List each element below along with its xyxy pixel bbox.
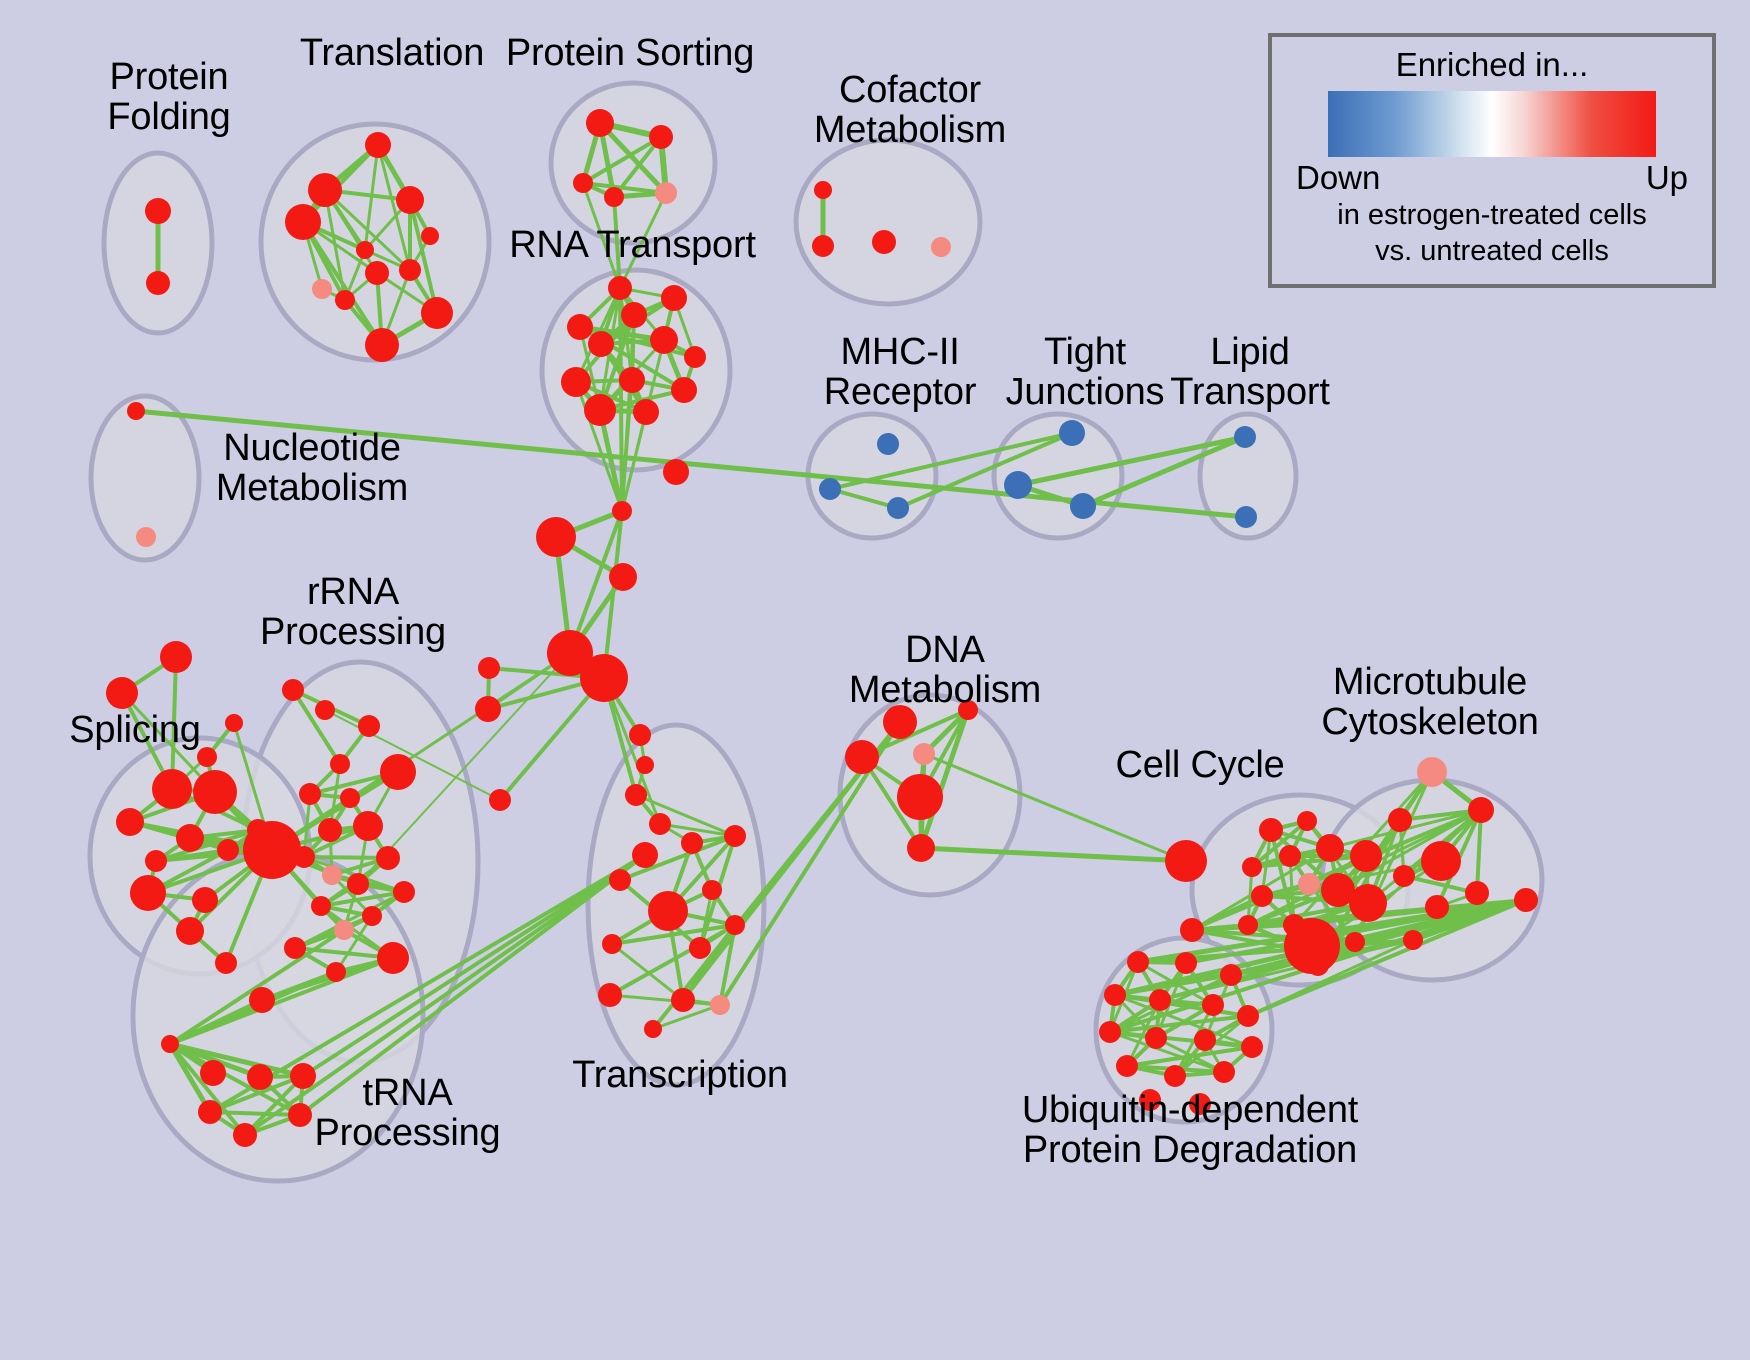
network-node[interactable]: [152, 769, 192, 809]
network-node[interactable]: [106, 677, 138, 709]
network-node[interactable]: [1284, 918, 1340, 974]
network-node[interactable]: [1468, 797, 1494, 823]
network-node[interactable]: [1388, 808, 1412, 832]
network-node[interactable]: [489, 789, 511, 811]
network-node[interactable]: [176, 824, 204, 852]
network-node[interactable]: [145, 198, 171, 224]
network-node[interactable]: [1220, 964, 1242, 986]
cluster-label-trna-processing: tRNA Processing: [300, 1073, 515, 1154]
network-node[interactable]: [1149, 989, 1171, 1011]
network-node[interactable]: [249, 987, 275, 1013]
network-node[interactable]: [625, 784, 647, 806]
network-node[interactable]: [193, 770, 237, 814]
network-node[interactable]: [1004, 471, 1032, 499]
network-node[interactable]: [561, 367, 591, 397]
cluster-label-transcription: Transcription: [560, 1055, 800, 1095]
network-node[interactable]: [1251, 885, 1273, 907]
network-node[interactable]: [308, 173, 342, 207]
network-node[interactable]: [478, 657, 500, 679]
network-node[interactable]: [689, 937, 711, 959]
network-node[interactable]: [598, 983, 622, 1007]
network-node[interactable]: [1279, 845, 1301, 867]
network-node[interactable]: [1298, 873, 1320, 895]
legend-up-label: Up: [1646, 159, 1688, 197]
network-node[interactable]: [621, 302, 647, 328]
network-node[interactable]: [1350, 840, 1382, 872]
network-node[interactable]: [315, 700, 335, 720]
cluster-label-mhc-ii-receptor: MHC-II Receptor: [800, 332, 1000, 413]
network-node[interactable]: [588, 331, 614, 357]
network-node[interactable]: [312, 279, 332, 299]
cluster-label-lipid-transport: Lipid Transport: [1150, 332, 1350, 413]
network-node[interactable]: [1213, 1061, 1235, 1083]
network-edge: [500, 678, 604, 800]
cluster-label-rrna-processing: rRNA Processing: [248, 572, 458, 653]
network-node[interactable]: [629, 724, 651, 746]
network-node[interactable]: [1425, 895, 1449, 919]
cluster-label-protein-folding: Protein Folding: [74, 57, 264, 138]
network-node[interactable]: [609, 869, 631, 891]
network-node[interactable]: [1099, 1021, 1121, 1043]
cluster-label-translation: Translation: [277, 33, 507, 73]
network-node[interactable]: [358, 715, 380, 737]
network-node[interactable]: [200, 1060, 226, 1086]
network-node[interactable]: [671, 988, 695, 1012]
network-node[interactable]: [176, 917, 204, 945]
network-node[interactable]: [1393, 865, 1415, 887]
network-node[interactable]: [812, 235, 834, 257]
network-node[interactable]: [353, 811, 383, 841]
network-node[interactable]: [130, 875, 166, 911]
network-node[interactable]: [814, 181, 832, 199]
network-node[interactable]: [365, 261, 389, 285]
network-node[interactable]: [573, 173, 593, 193]
network-node[interactable]: [931, 237, 951, 257]
network-node[interactable]: [619, 367, 645, 393]
network-node[interactable]: [536, 517, 576, 557]
network-node[interactable]: [1127, 951, 1149, 973]
network-node[interactable]: [293, 846, 315, 868]
network-node[interactable]: [845, 740, 879, 774]
network-node[interactable]: [648, 891, 688, 931]
network-node[interactable]: [1242, 857, 1262, 877]
legend-color-bar: [1328, 91, 1656, 157]
network-node[interactable]: [1345, 932, 1365, 952]
network-node[interactable]: [1145, 1027, 1167, 1049]
network-node[interactable]: [1194, 1029, 1216, 1051]
network-node[interactable]: [1241, 1036, 1263, 1058]
legend-panel: Enriched in... Down Up in estrogen-treat…: [1268, 33, 1716, 288]
network-node[interactable]: [311, 896, 331, 916]
network-node[interactable]: [282, 679, 304, 701]
network-node[interactable]: [710, 995, 730, 1015]
network-node[interactable]: [127, 402, 145, 420]
network-node[interactable]: [145, 850, 167, 872]
network-node[interactable]: [1349, 884, 1387, 922]
network-node[interactable]: [671, 377, 697, 403]
network-node[interactable]: [136, 527, 156, 547]
network-node[interactable]: [160, 641, 192, 673]
network-node[interactable]: [602, 934, 622, 954]
network-node[interactable]: [421, 227, 439, 245]
network-node[interactable]: [684, 346, 706, 368]
network-node[interactable]: [347, 873, 369, 895]
network-node[interactable]: [215, 952, 237, 974]
network-node[interactable]: [1237, 1005, 1259, 1027]
network-node[interactable]: [913, 743, 935, 765]
cluster-label-splicing: Splicing: [55, 710, 215, 750]
figure-canvas: Protein FoldingTranslationProtein Sortin…: [0, 0, 1750, 1360]
network-node[interactable]: [1175, 952, 1197, 974]
cluster-label-rna-transport: RNA Transport: [500, 225, 765, 265]
network-node[interactable]: [897, 774, 943, 820]
network-node[interactable]: [655, 182, 677, 204]
network-node[interactable]: [225, 714, 243, 732]
cluster-label-microtubule-cytoskeleton: Microtubule Cytoskeleton: [1290, 662, 1570, 743]
network-node[interactable]: [1403, 930, 1423, 950]
network-node[interactable]: [335, 290, 355, 310]
network-node[interactable]: [1164, 1065, 1186, 1087]
cluster-label-ubiquitin-degradation: Ubiquitin-dependent Protein Degradation: [980, 1090, 1400, 1171]
network-node[interactable]: [380, 754, 416, 790]
legend-caption-line2: vs. untreated cells: [1272, 235, 1712, 268]
network-node[interactable]: [1417, 757, 1447, 787]
cluster-label-dna-metabolism: DNA Metabolism: [805, 630, 1085, 711]
network-node[interactable]: [644, 1020, 662, 1038]
cluster-label-nucleotide-metabolism: Nucleotide Metabolism: [192, 428, 432, 509]
network-node[interactable]: [247, 1064, 273, 1090]
network-node[interactable]: [243, 821, 301, 879]
network-node[interactable]: [399, 259, 421, 281]
network-node[interactable]: [608, 276, 632, 300]
network-node[interactable]: [1116, 1055, 1138, 1077]
network-edge: [620, 288, 622, 511]
network-node[interactable]: [192, 887, 218, 913]
network-node[interactable]: [285, 204, 321, 240]
network-node[interactable]: [233, 1123, 257, 1147]
network-node[interactable]: [636, 756, 654, 774]
legend-caption-line1: in estrogen-treated cells: [1272, 199, 1712, 232]
network-node[interactable]: [362, 906, 382, 926]
network-node[interactable]: [396, 186, 424, 214]
network-node[interactable]: [217, 839, 239, 861]
network-node[interactable]: [604, 187, 624, 207]
network-node[interactable]: [475, 696, 501, 722]
network-node[interactable]: [146, 271, 170, 295]
network-node[interactable]: [872, 230, 896, 254]
network-node[interactable]: [326, 962, 346, 982]
network-node[interactable]: [1059, 420, 1085, 446]
network-node[interactable]: [284, 937, 306, 959]
network-node[interactable]: [567, 314, 593, 340]
network-node[interactable]: [609, 563, 637, 591]
network-node[interactable]: [1234, 426, 1256, 448]
network-node[interactable]: [376, 846, 400, 870]
network-node[interactable]: [649, 125, 673, 149]
network-node[interactable]: [322, 865, 342, 885]
network-node[interactable]: [819, 478, 841, 500]
network-node[interactable]: [356, 241, 374, 259]
cluster-label-cell-cycle: Cell Cycle: [1100, 745, 1300, 785]
network-node[interactable]: [116, 808, 144, 836]
network-node[interactable]: [365, 328, 399, 362]
network-node[interactable]: [1259, 818, 1283, 842]
network-edge: [304, 857, 388, 858]
network-node[interactable]: [161, 1035, 179, 1053]
network-node[interactable]: [612, 501, 632, 521]
network-node[interactable]: [340, 788, 360, 808]
network-node[interactable]: [1514, 888, 1538, 912]
network-node[interactable]: [334, 920, 354, 940]
network-node[interactable]: [365, 132, 391, 158]
legend-title: Enriched in...: [1272, 47, 1712, 83]
network-node[interactable]: [1165, 840, 1207, 882]
network-node[interactable]: [663, 459, 689, 485]
network-node[interactable]: [318, 818, 342, 842]
network-node[interactable]: [702, 880, 722, 900]
network-node[interactable]: [1316, 834, 1344, 862]
network-node[interactable]: [887, 497, 909, 519]
legend-down-label: Down: [1296, 159, 1380, 197]
network-node[interactable]: [725, 915, 745, 935]
network-node[interactable]: [1180, 918, 1204, 942]
network-node[interactable]: [877, 433, 899, 455]
network-node[interactable]: [724, 825, 746, 847]
network-node[interactable]: [586, 109, 614, 137]
network-node[interactable]: [1235, 506, 1257, 528]
network-node[interactable]: [681, 832, 703, 854]
network-node[interactable]: [633, 399, 659, 425]
network-node[interactable]: [1202, 994, 1224, 1016]
network-node[interactable]: [1465, 881, 1489, 905]
network-node[interactable]: [1238, 915, 1258, 935]
network-node[interactable]: [330, 754, 350, 774]
network-node[interactable]: [1104, 984, 1126, 1006]
network-node[interactable]: [421, 297, 453, 329]
network-node[interactable]: [580, 654, 628, 702]
network-node[interactable]: [299, 783, 321, 805]
network-node[interactable]: [632, 842, 658, 868]
network-node[interactable]: [584, 394, 616, 426]
network-node[interactable]: [650, 326, 678, 354]
network-node[interactable]: [907, 834, 935, 862]
network-node[interactable]: [198, 1100, 222, 1124]
cluster-hull-protein-sorting: [551, 83, 715, 243]
network-node[interactable]: [649, 813, 671, 835]
network-node[interactable]: [393, 881, 415, 903]
network-node[interactable]: [661, 285, 687, 311]
cluster-label-protein-sorting: Protein Sorting: [495, 33, 765, 73]
network-node[interactable]: [377, 942, 409, 974]
network-node[interactable]: [1070, 493, 1096, 519]
cluster-label-cofactor-metabolism: Cofactor Metabolism: [790, 70, 1030, 151]
network-node[interactable]: [1297, 811, 1317, 831]
network-node[interactable]: [1421, 841, 1461, 881]
